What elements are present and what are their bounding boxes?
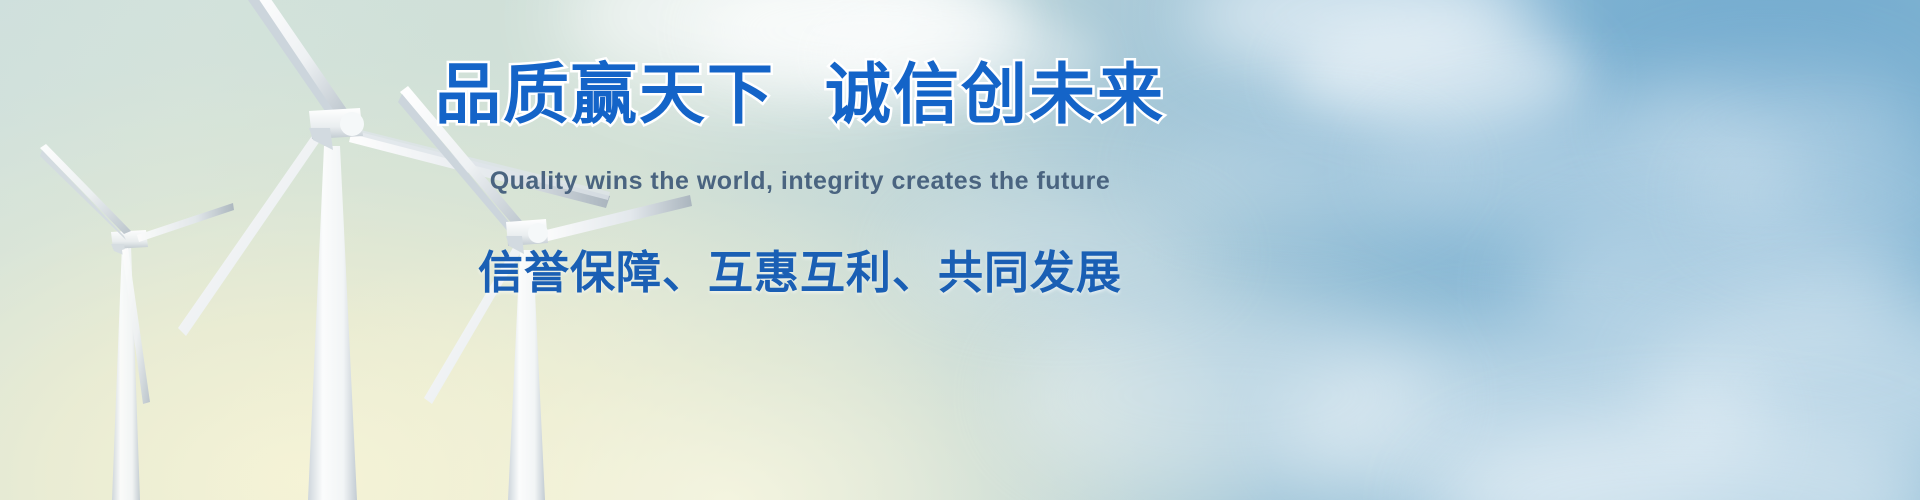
wind-turbine-center [178,0,610,500]
turbine-hub [340,112,364,136]
turbine-blade [40,144,131,234]
turbine-blade-shade [248,0,340,124]
turbine-blade [424,246,522,404]
wind-turbine-right [398,86,692,500]
turbine-blade [137,203,234,242]
turbine-tower [112,245,140,500]
promo-banner: 品质赢天下 诚信创未来 Quality wins the world, inte… [0,0,1920,500]
turbine-blade [538,195,692,243]
turbine-blade [178,130,322,336]
turbine-tower [508,250,545,500]
turbine-hub [528,223,548,243]
turbine-blade-shade [40,150,126,240]
wind-turbine-scene [0,0,1920,500]
wind-turbine-left [40,144,234,500]
turbine-tower [308,146,357,500]
